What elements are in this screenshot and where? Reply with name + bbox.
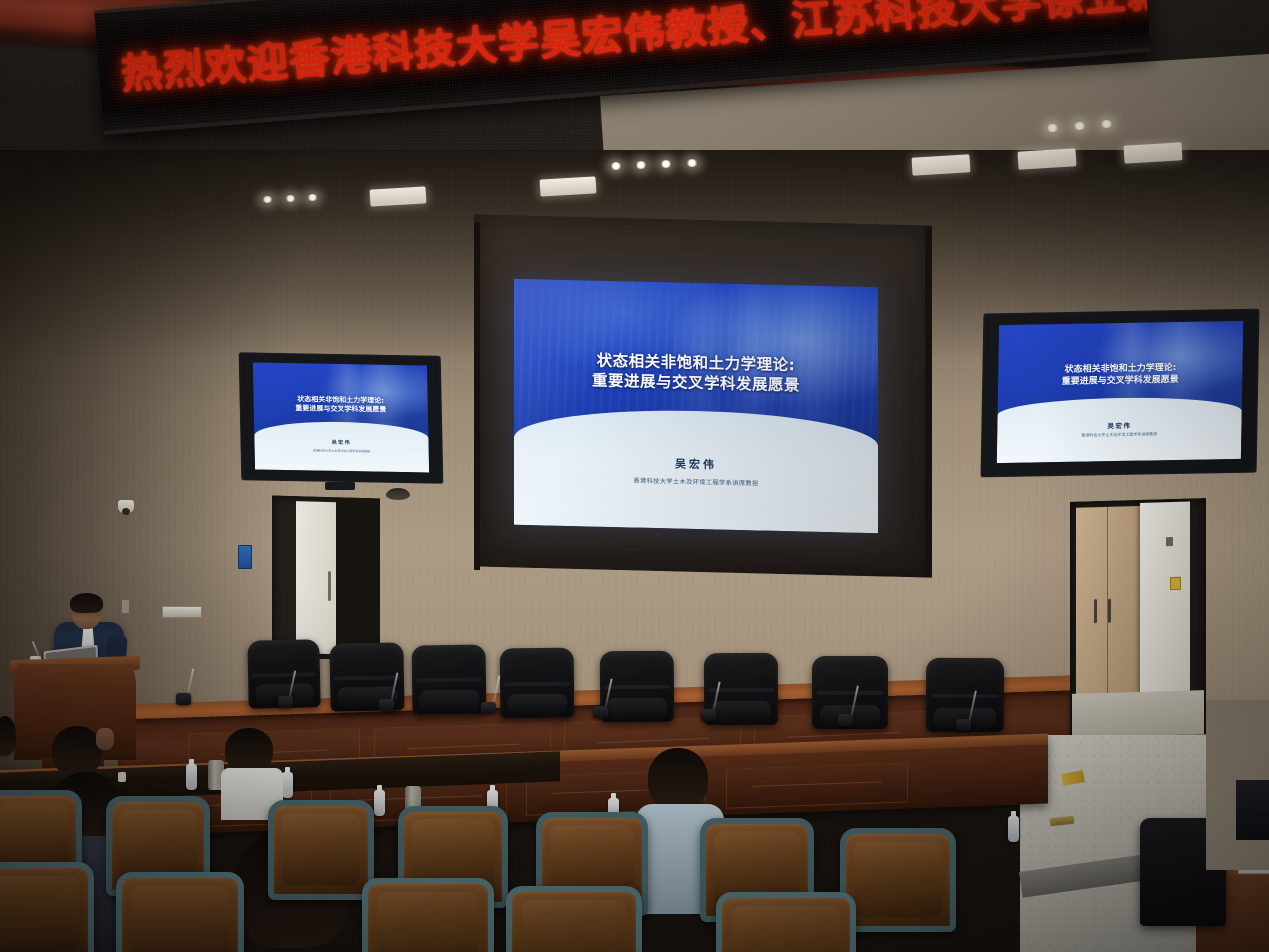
downlight-icon [660, 160, 672, 168]
microphone-icon [379, 699, 394, 711]
audience-seat[interactable] [0, 862, 94, 952]
attendee-head [0, 716, 16, 756]
downlight-icon [307, 194, 318, 201]
side-monitor-right: 状态相关非饱和土力学理论: 重要进展与交叉学科发展愿景 吴宏伟 香港科技大学土木… [981, 309, 1260, 478]
microphone-icon [701, 709, 716, 721]
downlight-icon [1100, 120, 1113, 128]
slide-title: 状态相关非饱和土力学理论: 重要进展与交叉学科发展愿景 [536, 351, 856, 398]
alcove-edge-left [474, 222, 480, 570]
doorway-left[interactable] [272, 495, 380, 660]
alcove-edge-right [925, 228, 932, 572]
attendee-hand [96, 728, 114, 750]
ceiling-speaker-icon [386, 488, 410, 500]
monitor-screen: 状态相关非饱和土力学理论: 重要进展与交叉学科发展愿景 吴宏伟 香港科技大学土木… [997, 321, 1244, 463]
attendee-head [648, 748, 708, 810]
recessed-panel-light-icon [540, 176, 597, 196]
door-handle-icon[interactable] [328, 571, 331, 601]
water-bottle[interactable] [374, 790, 385, 816]
downlight-icon [686, 159, 698, 167]
monitor-slide-title: 状态相关非饱和土力学理论: 重要进展与交叉学科发展愿景 [262, 395, 419, 415]
monitor-screen: 状态相关非饱和土力学理论: 重要进展与交叉学科发展愿景 吴宏伟 香港科技大学土木… [253, 362, 429, 472]
microphone-icon [838, 714, 853, 726]
downlight-icon [635, 161, 647, 169]
downlight-icon [610, 162, 622, 170]
microphone-icon [278, 696, 293, 708]
attendee-head [225, 728, 273, 772]
audience-seat[interactable] [506, 886, 642, 952]
side-monitor-left: 状态相关非饱和土力学理论: 重要进展与交叉学科发展愿景 吴宏伟 香港科技大学土木… [239, 352, 444, 483]
microphone-icon [956, 719, 971, 731]
downlight-icon [1073, 122, 1086, 130]
door-opening-dark [336, 497, 380, 660]
water-bottle[interactable] [186, 764, 197, 790]
wall-outlet-panel[interactable] [162, 606, 202, 618]
wall-switch[interactable] [122, 600, 129, 613]
notice-sign [1170, 577, 1181, 590]
right-dark-panel [1236, 780, 1269, 840]
main-projection-screen: 状态相关非饱和土力学理论: 重要进展与交叉学科发展愿景 吴宏伟 香港科技大学土木… [514, 279, 878, 534]
security-camera-icon [118, 500, 134, 513]
speaker-hair [70, 593, 103, 613]
monitor-slide-title: 状态相关非饱和土力学理论: 重要进展与交叉学科发展愿景 [1010, 362, 1230, 388]
microphone-icon [593, 706, 608, 718]
door-handle-icon[interactable] [1108, 599, 1111, 623]
downlight-icon [262, 196, 273, 203]
monitor-left-mount [325, 482, 355, 490]
water-bottle[interactable] [1008, 816, 1019, 842]
downlight-icon [285, 195, 296, 202]
blue-exit-sign [238, 545, 252, 569]
downlight-icon [1046, 124, 1059, 132]
executive-chair[interactable] [600, 651, 674, 723]
audience-seat[interactable] [840, 828, 956, 932]
audience-seat[interactable] [716, 892, 856, 952]
door-placard [1166, 537, 1173, 546]
recessed-panel-light-icon [912, 154, 971, 175]
desk-front-panel [726, 762, 908, 808]
water-bottle[interactable] [282, 772, 293, 798]
attendee-head [52, 726, 102, 776]
executive-chair[interactable] [412, 644, 487, 714]
door-handle-icon[interactable] [1094, 599, 1097, 623]
audience-seat[interactable] [362, 878, 494, 952]
corridor-floor [1072, 690, 1204, 738]
doorway-right[interactable] [1070, 498, 1206, 738]
eyeglasses [118, 772, 126, 782]
lecture-hall-photo: 热烈欢迎香港科技大学吴宏伟教授、江苏科技大学徐立新教授莅临我校座谈交流 状态相关… [0, 0, 1269, 952]
recessed-panel-light-icon [1124, 142, 1183, 163]
audience-seat[interactable] [268, 800, 374, 900]
audience-seat[interactable] [116, 872, 244, 952]
recessed-panel-light-icon [1018, 148, 1077, 169]
microphone-icon [481, 702, 496, 714]
microphone-icon [176, 693, 191, 705]
door-white-open[interactable] [1140, 502, 1190, 693]
recessed-panel-light-icon [370, 186, 427, 206]
executive-chair[interactable] [500, 648, 575, 719]
